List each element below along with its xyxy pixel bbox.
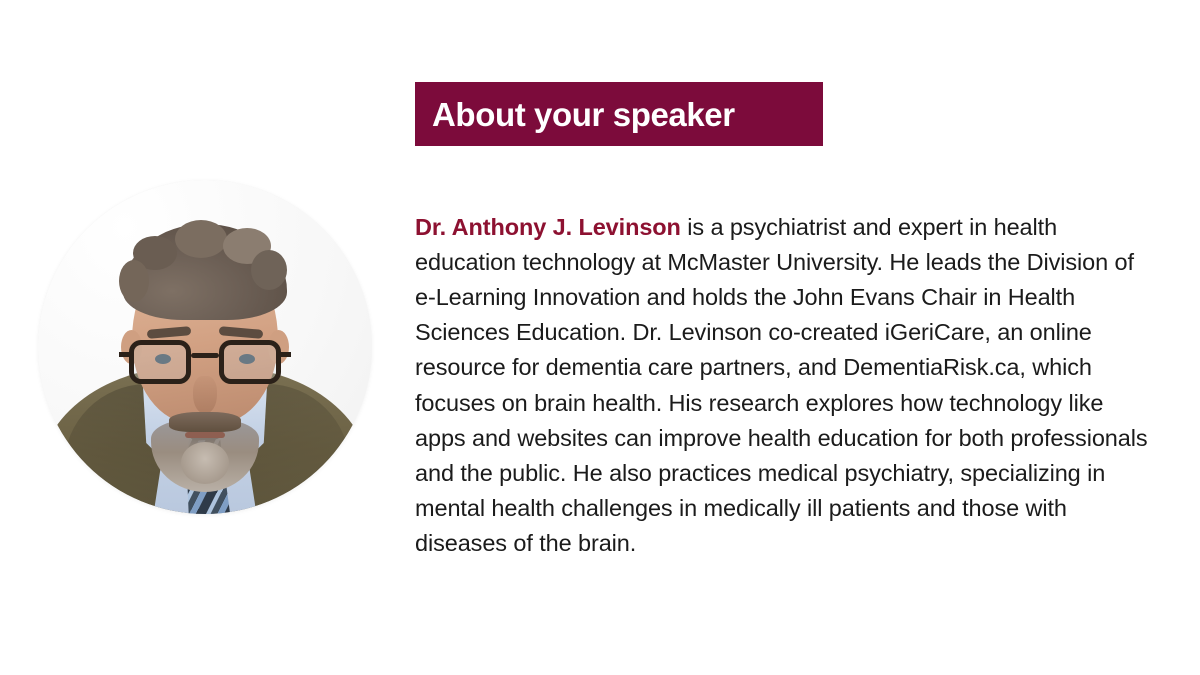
lens-left xyxy=(129,340,191,384)
moustache-shape xyxy=(169,412,241,432)
speaker-bio-text: is a psychiatrist and expert in health e… xyxy=(415,214,1148,557)
hair-tuft xyxy=(251,250,287,290)
speaker-bio: Dr. Anthony J. Levinson is a psychiatris… xyxy=(415,210,1150,562)
lens-right xyxy=(219,340,281,384)
eyeglasses xyxy=(127,340,283,386)
page-title: About your speaker xyxy=(432,98,735,131)
section-header-bar: About your speaker xyxy=(415,82,823,146)
hair-tuft xyxy=(175,220,227,258)
glasses-bridge xyxy=(191,353,219,358)
chin-beard-patch xyxy=(181,442,229,484)
mouth-shape xyxy=(185,432,225,438)
speaker-name: Dr. Anthony J. Levinson xyxy=(415,214,681,240)
glasses-temple-left xyxy=(119,352,129,357)
portrait-image xyxy=(38,180,372,514)
speaker-slide: About your speaker Dr. Anthony J. Levins… xyxy=(0,0,1200,675)
speaker-portrait xyxy=(38,180,372,514)
hair-tuft xyxy=(119,260,149,302)
glasses-temple-right xyxy=(281,352,291,357)
